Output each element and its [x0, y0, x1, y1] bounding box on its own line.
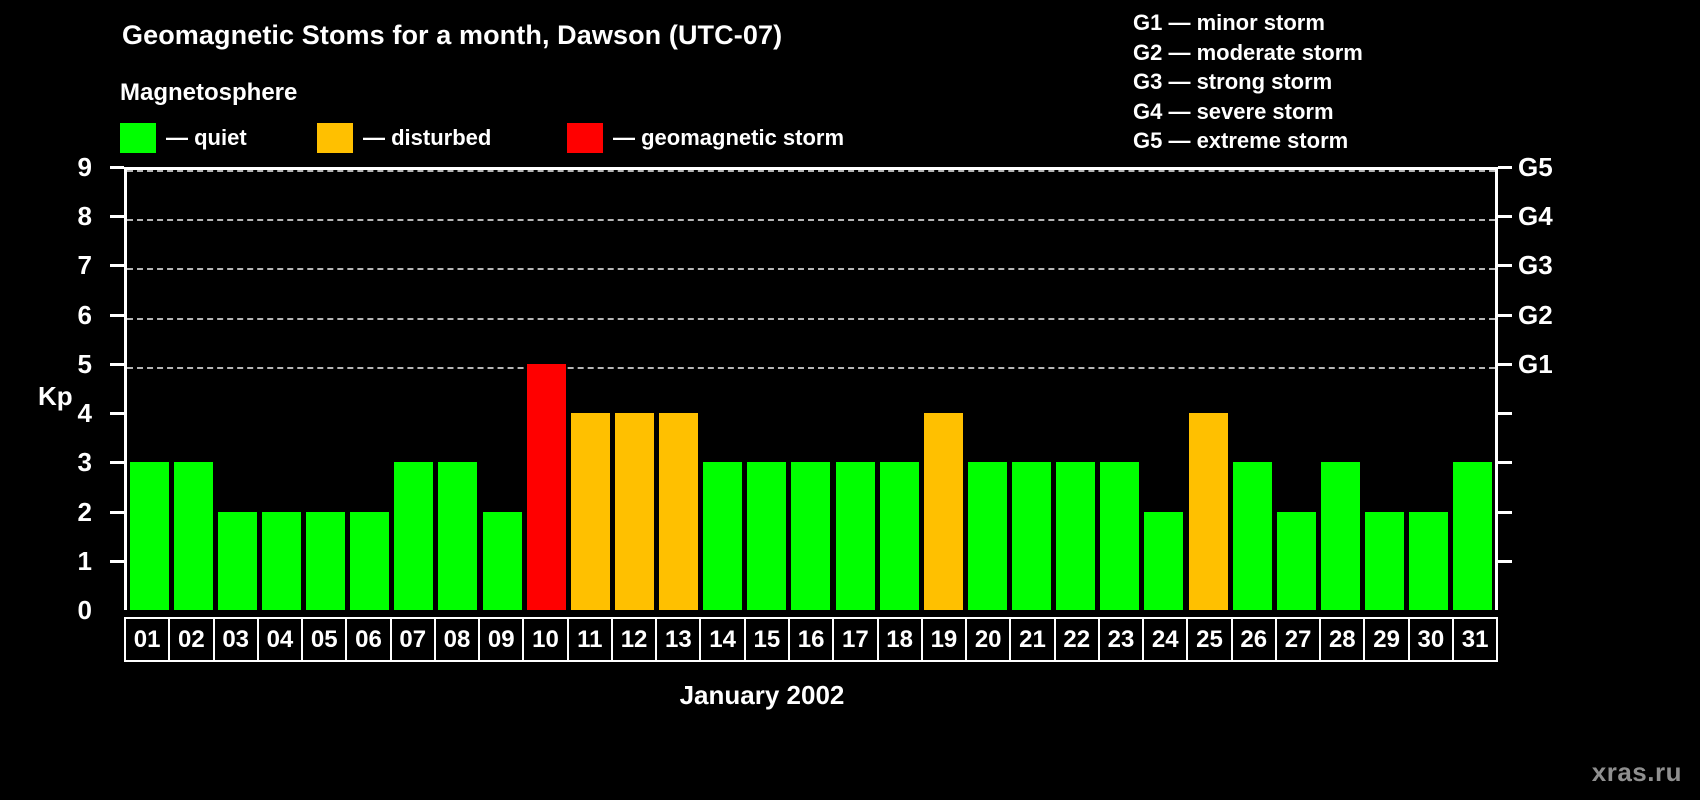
- g-tick-label-g4: G4: [1518, 203, 1553, 229]
- bar-slot-day-13[interactable]: [657, 170, 701, 610]
- y-tick-label-4: 4: [52, 400, 92, 426]
- g-axis-tick-kp-1: [1498, 560, 1512, 563]
- y-tick-mark-5: [110, 363, 124, 366]
- day-label-30[interactable]: 30: [1410, 619, 1454, 660]
- g-axis-tick-kp-2: [1498, 511, 1512, 514]
- g-scale-legend: G1 — minor stormG2 — moderate stormG3 — …: [1133, 8, 1363, 156]
- bar-day-15[interactable]: [747, 462, 786, 610]
- bar-slot-day-28[interactable]: [1318, 170, 1362, 610]
- bar-day-30[interactable]: [1409, 512, 1448, 610]
- bar-day-24[interactable]: [1144, 512, 1183, 610]
- y-tick-mark-6: [110, 314, 124, 317]
- legend-swatch-disturbed: [317, 123, 353, 153]
- bar-day-21[interactable]: [1012, 462, 1051, 610]
- bar-day-06[interactable]: [350, 512, 389, 610]
- g-tick-label-g3: G3: [1518, 252, 1553, 278]
- bar-slot-day-18[interactable]: [877, 170, 921, 610]
- legend-label-geomagnetic-storm: — geomagnetic storm: [613, 127, 844, 149]
- geomagnetic-storm-chart-page: Geomagnetic Stoms for a month, Dawson (U…: [0, 0, 1700, 800]
- legend-item-quiet: — quiet: [120, 122, 247, 154]
- bar-slot-day-22[interactable]: [1054, 170, 1098, 610]
- bar-slot-day-06[interactable]: [348, 170, 392, 610]
- bar-day-09[interactable]: [483, 512, 522, 610]
- legend-swatch-geomagnetic-storm: [567, 123, 603, 153]
- day-label-24[interactable]: 24: [1144, 619, 1188, 660]
- bar-day-13[interactable]: [659, 413, 698, 610]
- y-tick-mark-9: [110, 166, 124, 169]
- bar-day-14[interactable]: [703, 462, 742, 610]
- bar-slot-day-21[interactable]: [1010, 170, 1054, 610]
- bar-slot-day-29[interactable]: [1363, 170, 1407, 610]
- day-label-25[interactable]: 25: [1188, 619, 1232, 660]
- bar-slot-day-26[interactable]: [1230, 170, 1274, 610]
- bar-slot-day-20[interactable]: [965, 170, 1009, 610]
- y-tick-mark-7: [110, 264, 124, 267]
- y-tick-mark-2: [110, 511, 124, 514]
- bars-layer: [127, 170, 1495, 610]
- bar-slot-day-02[interactable]: [171, 170, 215, 610]
- day-label-17[interactable]: 17: [834, 619, 878, 660]
- day-label-02[interactable]: 02: [170, 619, 214, 660]
- bar-slot-day-16[interactable]: [789, 170, 833, 610]
- legend-swatch-quiet: [120, 123, 156, 153]
- bar-day-03[interactable]: [218, 512, 257, 610]
- day-label-12[interactable]: 12: [613, 619, 657, 660]
- day-label-09[interactable]: 09: [480, 619, 524, 660]
- day-label-31[interactable]: 31: [1454, 619, 1496, 660]
- bar-day-27[interactable]: [1277, 512, 1316, 610]
- legend: — quiet— disturbed— geomagnetic storm: [120, 122, 1020, 154]
- day-label-04[interactable]: 04: [259, 619, 303, 660]
- day-label-01[interactable]: 01: [126, 619, 170, 660]
- day-label-16[interactable]: 16: [790, 619, 834, 660]
- bar-day-01[interactable]: [130, 462, 169, 610]
- bar-slot-day-08[interactable]: [436, 170, 480, 610]
- g-tick-label-g2: G2: [1518, 302, 1553, 328]
- bar-slot-day-31[interactable]: [1451, 170, 1495, 610]
- bar-slot-day-24[interactable]: [1142, 170, 1186, 610]
- bar-slot-day-15[interactable]: [745, 170, 789, 610]
- gscale-line-g3: G3 — strong storm: [1133, 67, 1363, 97]
- gscale-line-g5: G5 — extreme storm: [1133, 126, 1363, 156]
- y-tick-mark-4: [110, 412, 124, 415]
- bar-slot-day-05[interactable]: [304, 170, 348, 610]
- bar-day-29[interactable]: [1365, 512, 1404, 610]
- page-title: Geomagnetic Stoms for a month, Dawson (U…: [122, 20, 782, 51]
- day-label-14[interactable]: 14: [701, 619, 745, 660]
- y-tick-mark-8: [110, 215, 124, 218]
- bar-day-18[interactable]: [880, 462, 919, 610]
- bar-day-05[interactable]: [306, 512, 345, 610]
- day-label-19[interactable]: 19: [923, 619, 967, 660]
- y-tick-label-9: 9: [52, 154, 92, 180]
- bar-slot-day-01[interactable]: [127, 170, 171, 610]
- y-tick-label-0: 0: [52, 597, 92, 623]
- day-label-13[interactable]: 13: [657, 619, 701, 660]
- g-axis-tick-kp-4: [1498, 412, 1512, 415]
- g-axis-tick-kp-6: [1498, 314, 1512, 317]
- g-axis-tick-kp-3: [1498, 461, 1512, 464]
- bar-day-22[interactable]: [1056, 462, 1095, 610]
- bar-day-11[interactable]: [571, 413, 610, 610]
- bar-day-10[interactable]: [527, 364, 566, 610]
- day-label-20[interactable]: 20: [967, 619, 1011, 660]
- day-label-22[interactable]: 22: [1056, 619, 1100, 660]
- bar-day-19[interactable]: [924, 413, 963, 610]
- bar-day-28[interactable]: [1321, 462, 1360, 610]
- g-axis-tick-kp-7: [1498, 264, 1512, 267]
- day-label-29[interactable]: 29: [1365, 619, 1409, 660]
- g-axis-tick-kp-5: [1498, 363, 1512, 366]
- x-axis-day-labels: 0102030405060708091011121314151617181920…: [124, 617, 1498, 662]
- y-tick-label-6: 6: [52, 302, 92, 328]
- bar-day-02[interactable]: [174, 462, 213, 610]
- legend-label-disturbed: — disturbed: [363, 127, 491, 149]
- bar-slot-day-04[interactable]: [259, 170, 303, 610]
- gscale-line-g1: G1 — minor storm: [1133, 8, 1363, 38]
- day-label-26[interactable]: 26: [1233, 619, 1277, 660]
- y-tick-label-1: 1: [52, 548, 92, 574]
- bar-slot-day-11[interactable]: [568, 170, 612, 610]
- g-tick-label-g1: G1: [1518, 351, 1553, 377]
- bar-slot-day-07[interactable]: [392, 170, 436, 610]
- day-label-28[interactable]: 28: [1321, 619, 1365, 660]
- y-tick-label-8: 8: [52, 203, 92, 229]
- day-label-15[interactable]: 15: [746, 619, 790, 660]
- day-label-27[interactable]: 27: [1277, 619, 1321, 660]
- y-tick-label-5: 5: [52, 351, 92, 377]
- bar-slot-day-27[interactable]: [1274, 170, 1318, 610]
- y-tick-mark-1: [110, 560, 124, 563]
- day-label-10[interactable]: 10: [524, 619, 568, 660]
- bar-day-04[interactable]: [262, 512, 301, 610]
- day-label-11[interactable]: 11: [569, 619, 613, 660]
- bar-slot-day-17[interactable]: [833, 170, 877, 610]
- g-axis-tick-kp-8: [1498, 215, 1512, 218]
- y-tick-label-7: 7: [52, 252, 92, 278]
- bar-slot-day-25[interactable]: [1186, 170, 1230, 610]
- plot-area: [124, 167, 1498, 610]
- bar-day-07[interactable]: [394, 462, 433, 610]
- bar-slot-day-30[interactable]: [1407, 170, 1451, 610]
- bar-day-16[interactable]: [791, 462, 830, 610]
- y-tick-mark-3: [110, 461, 124, 464]
- bar-slot-day-23[interactable]: [1098, 170, 1142, 610]
- day-label-05[interactable]: 05: [303, 619, 347, 660]
- y-tick-label-3: 3: [52, 449, 92, 475]
- plot-inner: [127, 170, 1495, 610]
- day-label-18[interactable]: 18: [879, 619, 923, 660]
- bar-day-26[interactable]: [1233, 462, 1272, 610]
- x-axis-title: January 2002: [0, 680, 1612, 711]
- day-label-23[interactable]: 23: [1100, 619, 1144, 660]
- bar-slot-day-19[interactable]: [921, 170, 965, 610]
- g-axis-tick-kp-9: [1498, 166, 1512, 169]
- bar-day-08[interactable]: [438, 462, 477, 610]
- day-label-07[interactable]: 07: [392, 619, 436, 660]
- bar-slot-day-12[interactable]: [612, 170, 656, 610]
- gscale-line-g4: G4 — severe storm: [1133, 97, 1363, 127]
- bar-day-25[interactable]: [1189, 413, 1228, 610]
- day-label-06[interactable]: 06: [347, 619, 391, 660]
- bar-slot-day-10[interactable]: [524, 170, 568, 610]
- y-tick-label-2: 2: [52, 499, 92, 525]
- g-tick-label-g5: G5: [1518, 154, 1553, 180]
- bar-slot-day-09[interactable]: [480, 170, 524, 610]
- bar-slot-day-14[interactable]: [701, 170, 745, 610]
- legend-label-quiet: — quiet: [166, 127, 247, 149]
- gscale-line-g2: G2 — moderate storm: [1133, 38, 1363, 68]
- bar-day-31[interactable]: [1453, 462, 1492, 610]
- watermark: xras.ru: [1592, 757, 1682, 788]
- legend-item-geomagnetic-storm: — geomagnetic storm: [567, 122, 844, 154]
- day-label-08[interactable]: 08: [436, 619, 480, 660]
- legend-item-disturbed: — disturbed: [317, 122, 491, 154]
- bar-day-20[interactable]: [968, 462, 1007, 610]
- bar-day-12[interactable]: [615, 413, 654, 610]
- bar-day-23[interactable]: [1100, 462, 1139, 610]
- day-label-21[interactable]: 21: [1011, 619, 1055, 660]
- bar-day-17[interactable]: [836, 462, 875, 610]
- bar-slot-day-03[interactable]: [215, 170, 259, 610]
- day-label-03[interactable]: 03: [215, 619, 259, 660]
- legend-heading: Magnetosphere: [120, 79, 297, 107]
